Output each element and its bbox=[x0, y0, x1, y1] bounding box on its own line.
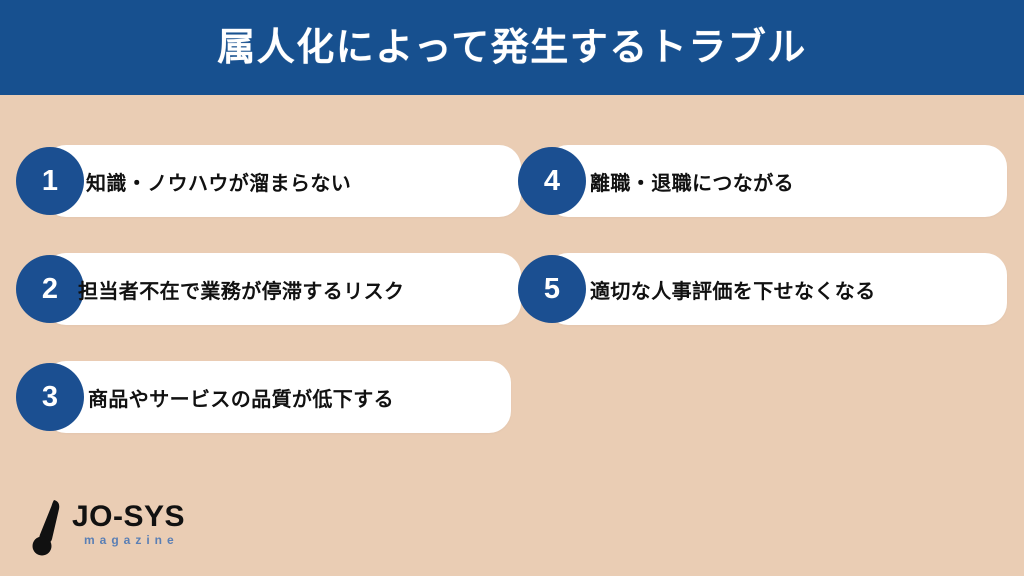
header-bar: 属人化によって発生するトラブル bbox=[0, 0, 1024, 95]
item-number-badge: 4 bbox=[518, 147, 586, 215]
slide-root: 属人化によって発生するトラブル 1 知識・ノウハウが溜まらない 2 担当者不在で… bbox=[0, 0, 1024, 576]
logo-wordmark: JO-SYS bbox=[72, 502, 185, 532]
item-label: 離職・退職につながる bbox=[590, 145, 794, 217]
item-label: 知識・ノウハウが溜まらない bbox=[86, 145, 351, 217]
logo: JO-SYS magazine bbox=[30, 498, 230, 560]
item-label: 担当者不在で業務が停滞するリスク bbox=[78, 253, 404, 325]
item-label: 適切な人事評価を下せなくなる bbox=[590, 253, 876, 325]
item-label: 商品やサービスの品質が低下する bbox=[88, 361, 394, 433]
item-number-badge: 2 bbox=[16, 255, 84, 323]
logo-subtext: magazine bbox=[84, 534, 179, 546]
item-number-badge: 1 bbox=[16, 147, 84, 215]
note-comma-icon bbox=[30, 498, 76, 556]
item-number-badge: 5 bbox=[518, 255, 586, 323]
page-title: 属人化によって発生するトラブル bbox=[217, 29, 806, 67]
item-number-badge: 3 bbox=[16, 363, 84, 431]
